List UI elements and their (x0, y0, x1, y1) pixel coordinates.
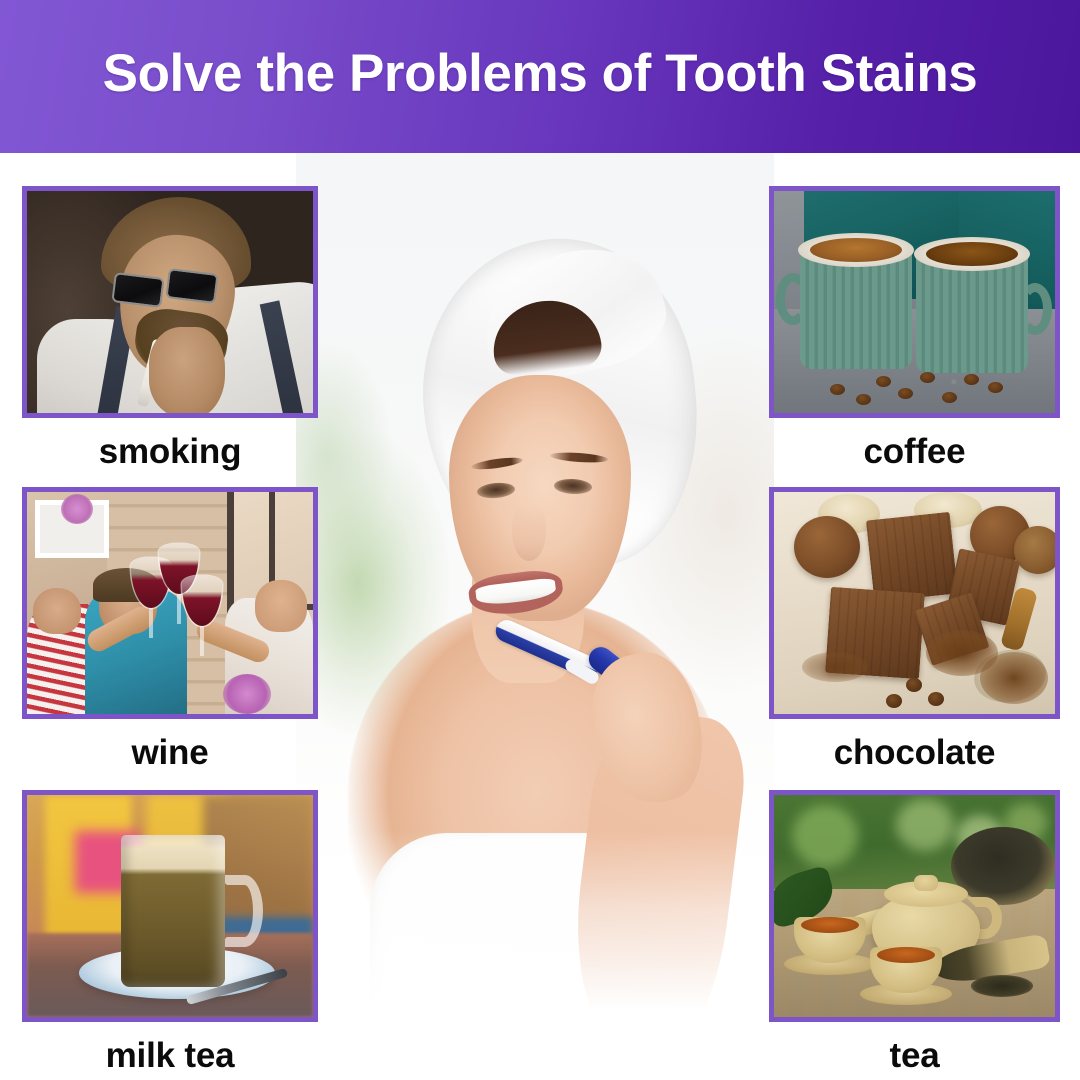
photo-coffee (774, 191, 1055, 413)
card-coffee[interactable]: coffee (769, 186, 1060, 473)
card-smoking[interactable]: smoking (22, 186, 318, 473)
hero-teeth (475, 577, 557, 607)
hero-fade-overlay (296, 830, 774, 1080)
coffee-bean-icon (856, 394, 871, 405)
sunglasses-icon (113, 271, 235, 305)
label-tea: tea (769, 1035, 1060, 1077)
poster-root: Solve the Problems of Tooth Stains (0, 0, 1080, 1080)
card-chocolate[interactable]: chocolate (769, 487, 1060, 774)
thumbnail-frame-wine[interactable] (22, 487, 318, 719)
label-milk-tea: milk tea (22, 1035, 318, 1077)
chocolate-truffle-icon (794, 516, 860, 578)
photo-milk-tea (27, 795, 313, 1017)
thumbnail-frame-smoking[interactable] (22, 186, 318, 418)
label-smoking: smoking (22, 431, 318, 473)
coffee-mug-icon (800, 249, 912, 369)
header-banner: Solve the Problems of Tooth Stains (0, 0, 1080, 153)
thumbnail-frame-chocolate[interactable] (769, 487, 1060, 719)
photo-tea (774, 795, 1055, 1017)
photo-chocolate (774, 492, 1055, 714)
chocolate-bar-icon (866, 512, 958, 602)
photo-wine (27, 492, 313, 714)
hero-nose (512, 503, 546, 561)
coffee-bean-icon (942, 392, 957, 403)
coffee-bean-icon (830, 384, 845, 395)
coffee-bean-icon (988, 382, 1003, 393)
coffee-bean-icon (964, 374, 979, 385)
card-milk-tea[interactable]: milk tea (22, 790, 318, 1077)
card-tea[interactable]: tea (769, 790, 1060, 1077)
coffee-mug-icon (916, 253, 1028, 373)
coffee-bean-icon (898, 388, 913, 399)
label-chocolate: chocolate (769, 732, 1060, 774)
coffee-bean-icon (920, 372, 935, 383)
label-coffee: coffee (769, 431, 1060, 473)
hero-image (296, 153, 774, 1080)
thumbnail-frame-tea[interactable] (769, 790, 1060, 1022)
thumbnail-frame-milk-tea[interactable] (22, 790, 318, 1022)
photo-smoking (27, 191, 313, 413)
card-wine[interactable]: wine (22, 487, 318, 774)
label-wine: wine (22, 732, 318, 774)
chocolate-truffle-icon (1014, 526, 1055, 574)
page-title: Solve the Problems of Tooth Stains (0, 40, 1080, 108)
coffee-bean-icon (876, 376, 891, 387)
thumbnail-frame-coffee[interactable] (769, 186, 1060, 418)
milk-tea-glass-icon (121, 835, 225, 987)
